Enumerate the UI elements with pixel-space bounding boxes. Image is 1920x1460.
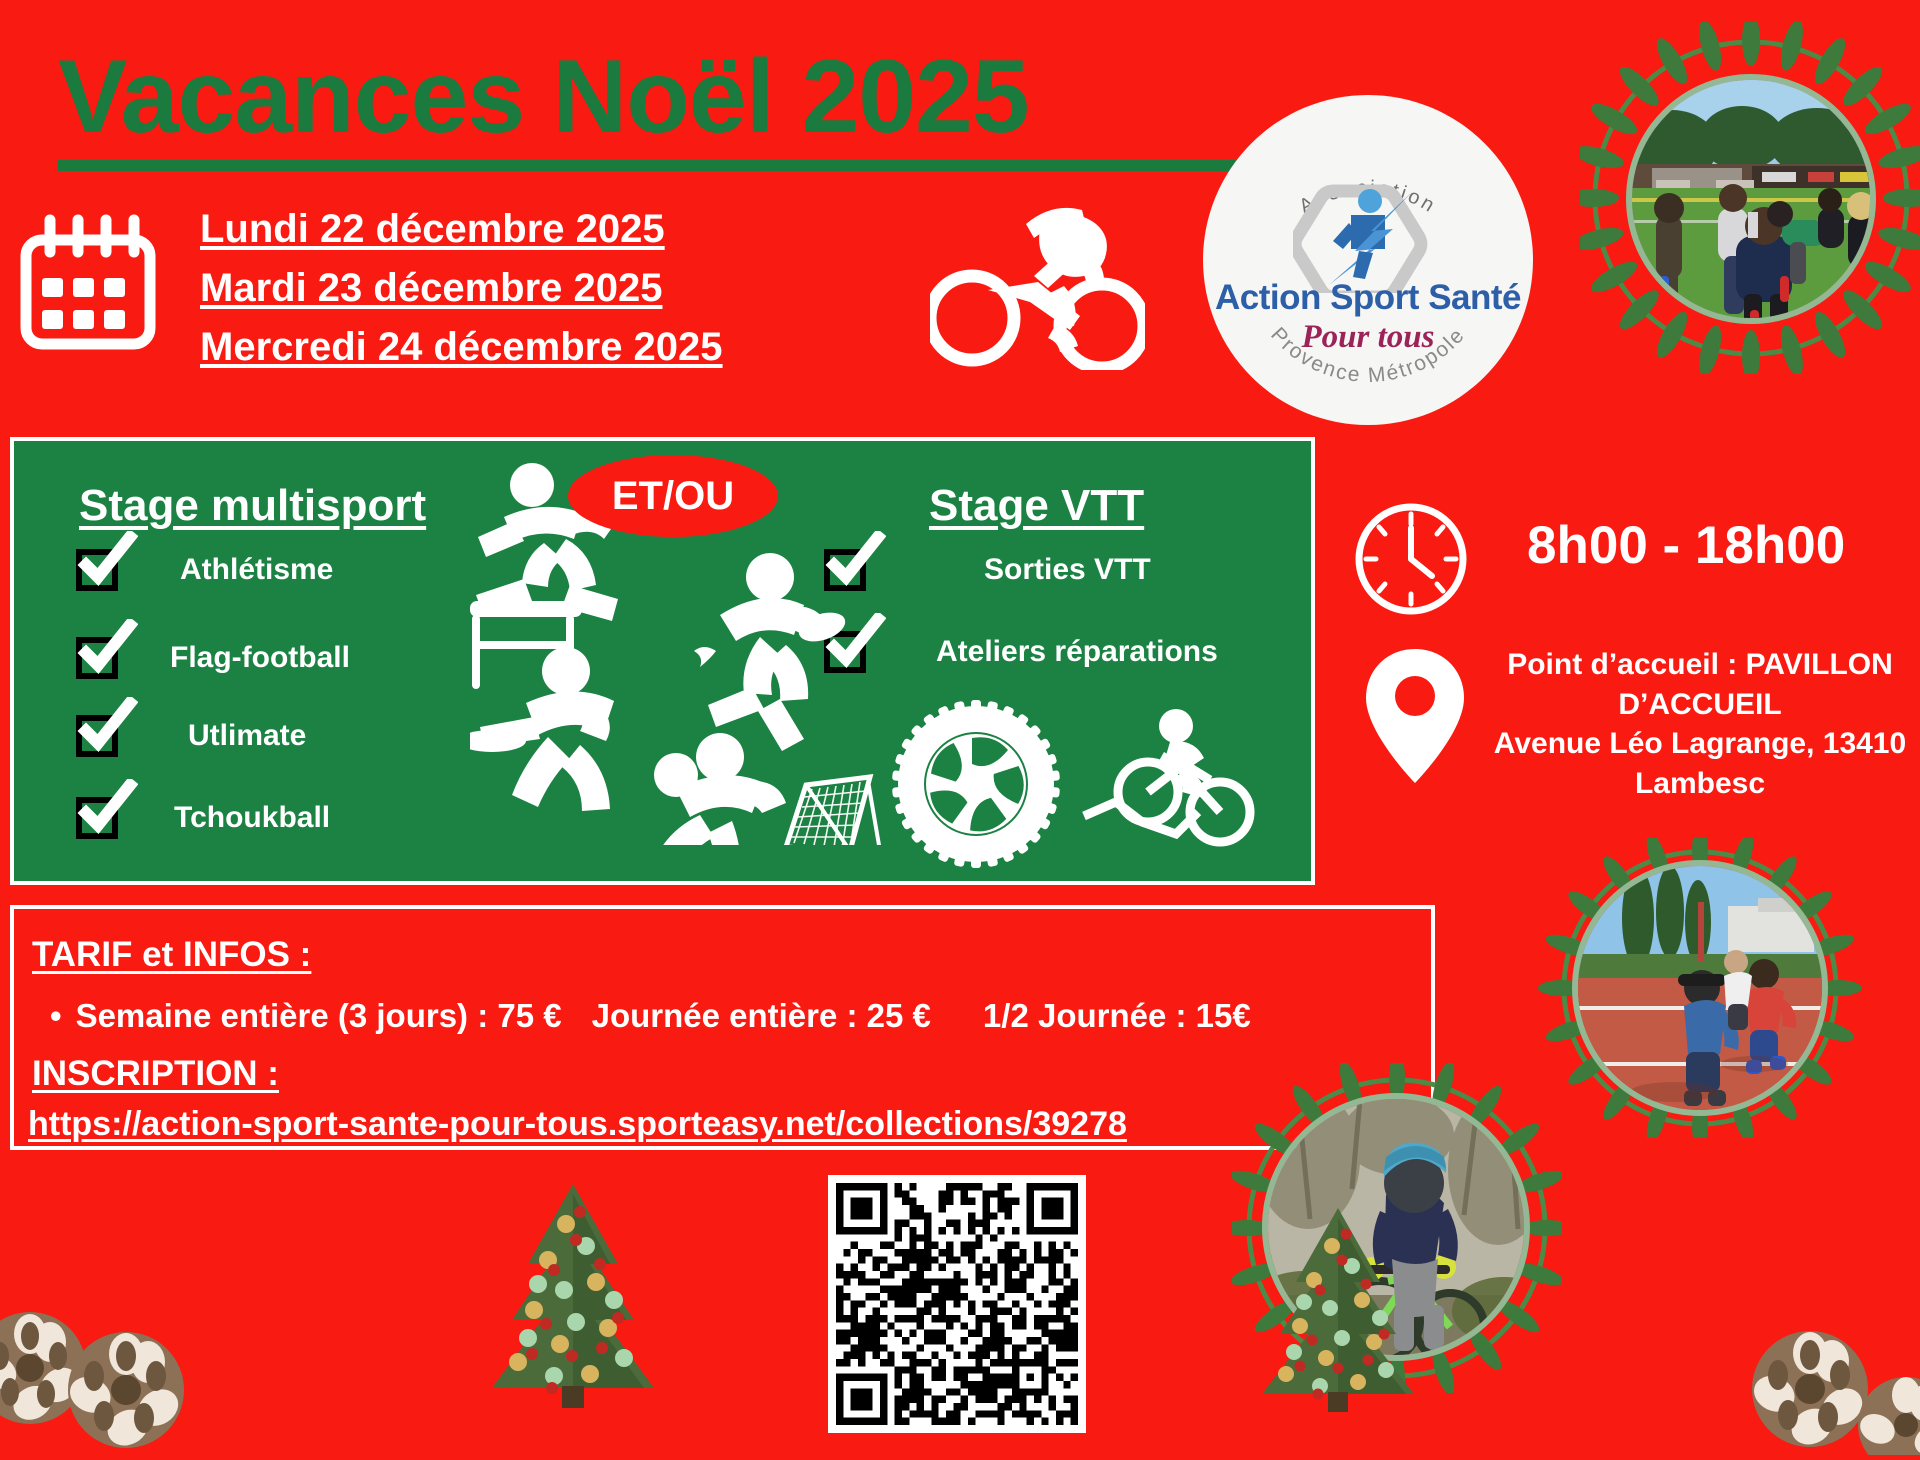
poster-root: Vacances Noël 2025 Lundi 22 décembre 202… bbox=[0, 0, 1920, 1440]
price-week: Semaine entière (3 jours) : 75 € bbox=[76, 997, 562, 1034]
et-ou-badge: ET/OU bbox=[568, 455, 778, 537]
date-line: Lundi 22 décembre 2025 bbox=[200, 200, 723, 259]
checkbox-checked[interactable] bbox=[76, 715, 118, 757]
calendar-icon bbox=[18, 212, 158, 357]
list-item-label: Sorties VTT bbox=[984, 553, 1151, 587]
bullet-marker: • bbox=[50, 997, 62, 1034]
address-block: Point d’accueil : PAVILLON D’ACCUEIL Ave… bbox=[1475, 645, 1920, 803]
chainring-icon bbox=[892, 700, 1060, 868]
pinecone-icon bbox=[0, 1290, 208, 1455]
dates-list: Lundi 22 décembre 2025 Mardi 23 décembre… bbox=[200, 200, 723, 376]
list-item: Athlétisme bbox=[76, 549, 333, 591]
date-line: Mardi 23 décembre 2025 bbox=[200, 259, 723, 318]
list-item-label: Flag-football bbox=[170, 641, 350, 675]
title-underline bbox=[58, 160, 1238, 171]
tchoukball-icon bbox=[654, 733, 786, 845]
list-item-label: Athlétisme bbox=[180, 553, 333, 587]
ultimate-frisbee-icon bbox=[470, 647, 614, 811]
photo-athletics-track bbox=[1532, 838, 1868, 1138]
logo-name: Action Sport Santé bbox=[1203, 278, 1533, 318]
list-item: Tchoukball bbox=[76, 797, 330, 839]
tchoukball-net-icon bbox=[786, 777, 880, 845]
flag-football-icon bbox=[694, 553, 849, 751]
inscription-title: INSCRIPTION : bbox=[32, 1054, 279, 1094]
photo-flag-football bbox=[1580, 22, 1920, 374]
date-line: Mercredi 24 décembre 2025 bbox=[200, 318, 723, 377]
list-item-label: Utlimate bbox=[188, 719, 306, 753]
mountain-biker-icon bbox=[1084, 709, 1250, 842]
christmas-tree-icon bbox=[1238, 1202, 1438, 1445]
inscription-url-link[interactable]: https://action-sport-sante-pour-tous.spo… bbox=[28, 1105, 1127, 1144]
page-title: Vacances Noël 2025 bbox=[58, 38, 1029, 157]
list-item-label: Ateliers réparations bbox=[936, 635, 1218, 669]
address-line: Avenue Léo Lagrange, 13410 bbox=[1475, 724, 1920, 764]
list-item: Utlimate bbox=[76, 715, 306, 757]
checkbox-checked[interactable] bbox=[76, 797, 118, 839]
address-line: D’ACCUEIL bbox=[1475, 685, 1920, 725]
logo-tagline: Pour tous bbox=[1203, 319, 1533, 356]
opening-hours: 8h00 - 18h00 bbox=[1527, 515, 1845, 576]
mountain-biker-silhouette-icon bbox=[930, 190, 1145, 375]
runner-hexagon-icon bbox=[1293, 181, 1443, 293]
checkbox-checked[interactable] bbox=[76, 637, 118, 679]
qr-code-icon[interactable] bbox=[828, 1175, 1086, 1433]
map-pin-icon bbox=[1362, 645, 1468, 792]
price-line: •Semaine entière (3 jours) : 75 €Journée… bbox=[50, 997, 1251, 1035]
tarif-title: TARIF et INFOS : bbox=[32, 935, 311, 975]
association-logo: Association Provence Métropole Action Sp… bbox=[1203, 95, 1533, 425]
checkbox-checked[interactable] bbox=[76, 549, 118, 591]
vtt-pictograms bbox=[880, 690, 1300, 885]
price-day: Journée entière : 25 € bbox=[592, 997, 931, 1034]
price-half-day: 1/2 Journée : 15€ bbox=[983, 997, 1251, 1034]
heading-multisport: Stage multisport bbox=[79, 481, 426, 531]
address-line: Lambesc bbox=[1475, 764, 1920, 804]
clock-icon bbox=[1352, 500, 1470, 623]
pinecone-icon bbox=[1740, 1315, 1920, 1460]
christmas-tree-icon bbox=[468, 1178, 678, 1445]
address-line: Point d’accueil : PAVILLON bbox=[1475, 645, 1920, 685]
list-item: Flag-football bbox=[76, 637, 350, 679]
heading-vtt: Stage VTT bbox=[929, 481, 1144, 531]
list-item-label: Tchoukball bbox=[174, 801, 330, 835]
tarif-info-box: TARIF et INFOS : •Semaine entière (3 jou… bbox=[10, 905, 1435, 1150]
